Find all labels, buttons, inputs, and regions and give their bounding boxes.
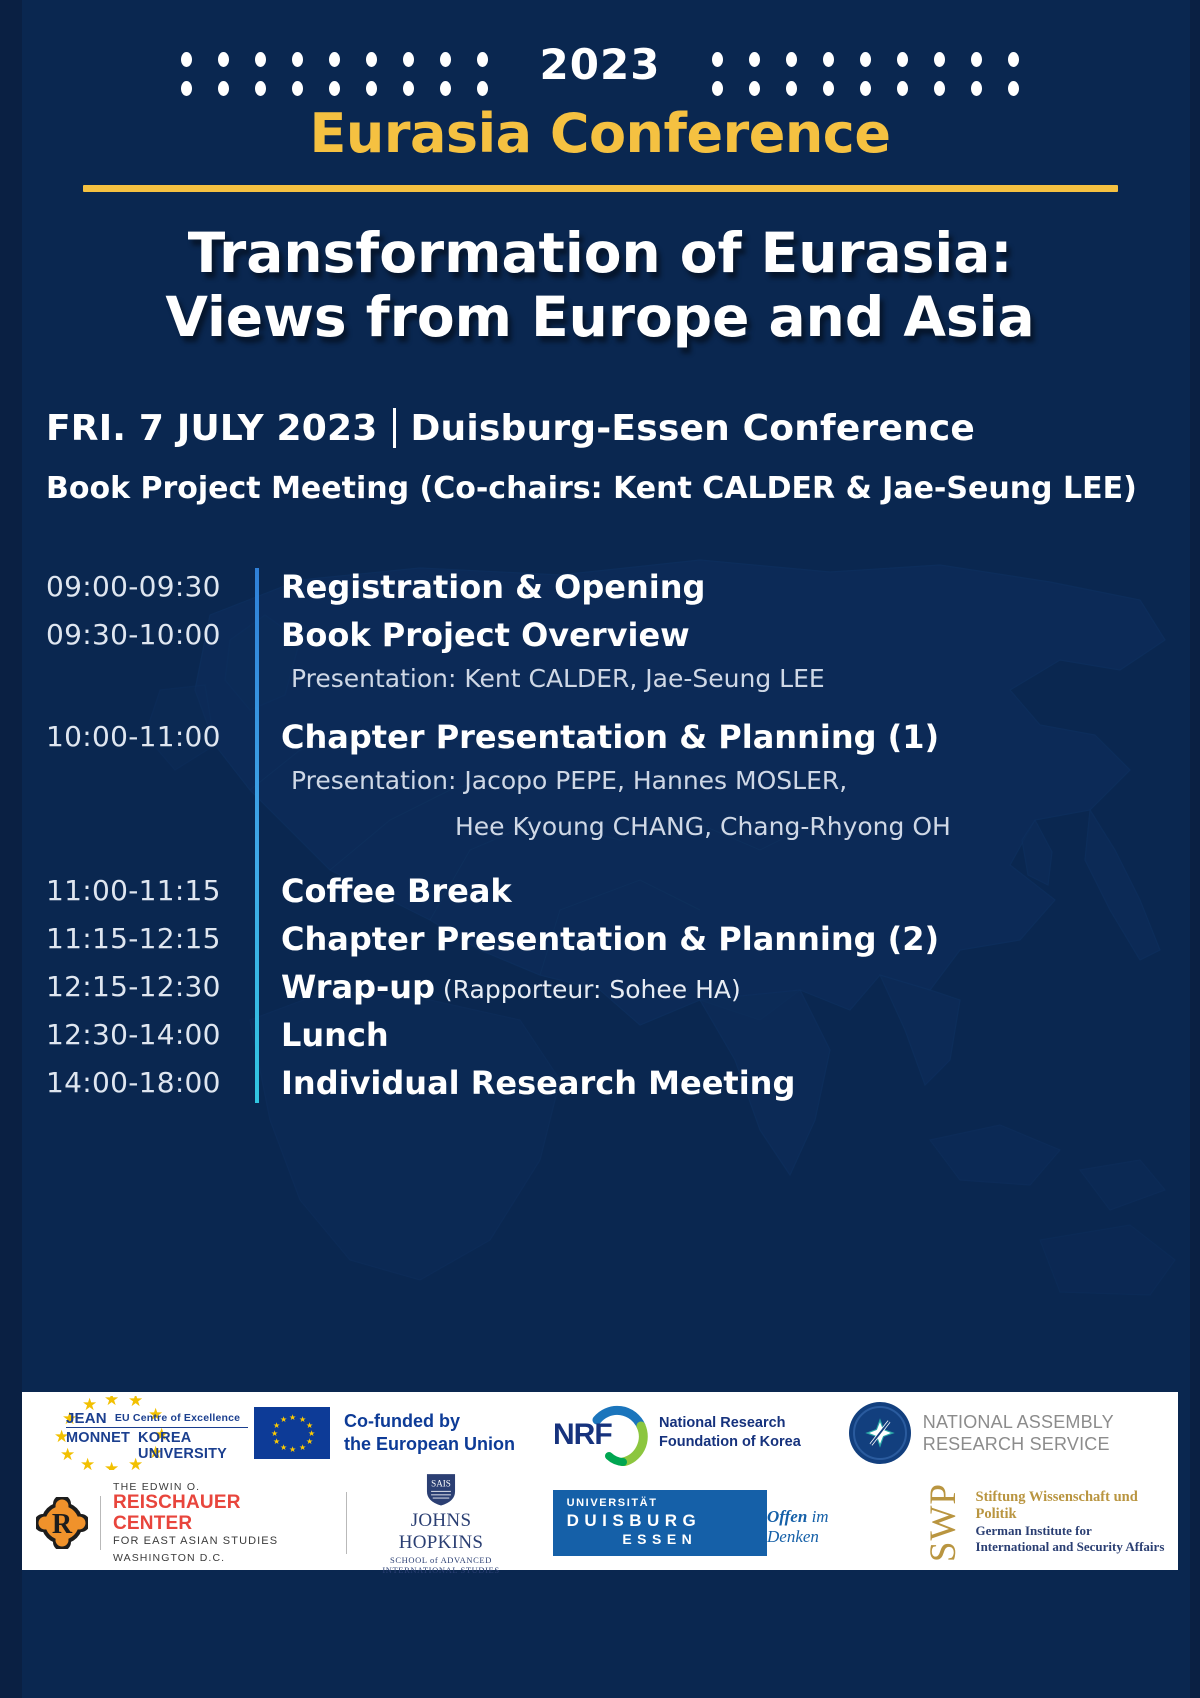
reischauer-line-2: REISCHAUER CENTER: [113, 1493, 320, 1535]
conference-poster: 2023: [0, 0, 1200, 1698]
duisburg-essen-box: UNIVERSITÄT DUISBURG ESSEN: [553, 1490, 767, 1556]
spacer: [46, 710, 1200, 718]
schedule-section: 09:00-09:30 Registration & Opening 09:30…: [0, 568, 1200, 1112]
schedule-time: 11:00-11:15: [46, 872, 255, 907]
schedule-row: 12:30-14:00 Lunch: [46, 1016, 1200, 1064]
schedule-title: Book Project Overview: [255, 616, 690, 654]
eu-flag-icon: ★★ ★★ ★★ ★★ ★★ ★★: [254, 1407, 330, 1459]
dot-icon: [823, 52, 834, 67]
svg-text:★: ★: [280, 1415, 287, 1424]
swp-line-2: German Institute for: [976, 1523, 1179, 1539]
schedule-title-text: Registration & Opening: [281, 568, 705, 606]
dot-icon: [934, 52, 945, 67]
sais-shield-icon: SAIS: [422, 1470, 460, 1508]
johns-hopkins-line-3: INTERNATIONAL STUDIES: [367, 1565, 514, 1575]
dot-line: [712, 81, 1019, 96]
schedule-time: 14:00-18:00: [46, 1064, 255, 1099]
schedule-time: 12:15-12:30: [46, 968, 255, 1003]
reischauer-seal-letter: R: [52, 1509, 73, 1540]
logo-divider: [100, 1496, 101, 1550]
schedule-title: Coffee Break: [255, 872, 512, 910]
co-funded-text: Co-funded by the European Union: [344, 1410, 515, 1456]
schedule-vertical-rule: [255, 568, 259, 1103]
schedule-time: [46, 812, 255, 814]
reischauer-line-3: FOR EAST ASIAN STUDIES: [113, 1535, 320, 1547]
swp-vertical-wordmark: SWP: [925, 1483, 962, 1562]
schedule-time: 10:00-11:00: [46, 718, 255, 753]
right-edge-strip: [1190, 0, 1200, 1698]
schedule-time: [46, 664, 255, 666]
sponsor-logo-band: ★ ★ ★ ★ ★ ★ ★ ★ ★ ★ ★ ★: [22, 1392, 1178, 1570]
dot-icon: [823, 81, 834, 96]
schedule-presenter-row: Presentation: Jacopo PEPE, Hannes MOSLER…: [46, 766, 1200, 812]
reischauer-center-logo: R THE EDWIN O. REISCHAUER CENTER FOR EAS…: [36, 1481, 320, 1565]
national-assembly-text: NATIONAL ASSEMBLY RESEARCH SERVICE: [923, 1411, 1114, 1456]
svg-text:★: ★: [289, 1413, 296, 1422]
dot-icon: [218, 52, 229, 67]
dot-icon: [292, 81, 303, 96]
pipe-divider: [393, 408, 396, 448]
event-date: FRI. 7 JULY 2023: [46, 408, 377, 449]
schedule-row: 11:15-12:15 Chapter Presentation & Plann…: [46, 920, 1200, 968]
schedule-time: 12:30-14:00: [46, 1016, 255, 1051]
swp-line-3: International and Security Affairs: [976, 1539, 1179, 1555]
schedule-presenter: Hee Kyoung CHANG, Chang-Rhyong OH: [255, 812, 951, 841]
svg-text:★: ★: [280, 1443, 287, 1452]
date-line: FRI. 7 JULY 2023 Duisburg-Essen Conferen…: [46, 408, 1200, 449]
schedule-row: 09:30-10:00 Book Project Overview: [46, 616, 1200, 664]
schedule-title: Lunch: [255, 1016, 389, 1054]
dot-icon: [292, 52, 303, 67]
left-edge-strip: [0, 0, 22, 1698]
logo-row-2: R THE EDWIN O. REISCHAUER CENTER FOR EAS…: [22, 1470, 1178, 1579]
nrf-text: National Research Foundation of Korea: [659, 1414, 801, 1452]
schedule-title-text: Book Project Overview: [281, 616, 690, 654]
nars-line-2: RESEARCH SERVICE: [923, 1433, 1114, 1456]
jean-monnet-line-2: MONNET KOREA UNIVERSITY: [66, 1430, 248, 1462]
spacer: [46, 858, 1200, 872]
dot-icon: [477, 52, 488, 67]
dot-icon: [329, 81, 340, 96]
johns-hopkins-logo: SAIS JOHNS HOPKINS SCHOOL of ADVANCED IN…: [346, 1470, 514, 1575]
dot-icon: [366, 52, 377, 67]
swp-logo: SWP Stiftung Wissenschaft und Politik Ge…: [925, 1483, 1179, 1562]
page-title: Transformation of Eurasia: Views from Eu…: [0, 222, 1200, 350]
dot-icon: [181, 81, 192, 96]
nrf-mark: NRF: [553, 1402, 649, 1464]
national-assembly-badge-icon: [849, 1402, 911, 1464]
dot-icon: [218, 81, 229, 96]
dot-icon: [934, 81, 945, 96]
schedule-time: [46, 766, 255, 768]
schedule-title-note: (Rapporteur: Sohee HA): [435, 975, 741, 1004]
dot-icon: [712, 81, 723, 96]
dot-group-left: [181, 52, 488, 96]
poster-header: 2023: [0, 0, 1200, 192]
nrf-line-2: Foundation of Korea: [659, 1433, 801, 1452]
dot-icon: [329, 52, 340, 67]
logo-row-1: ★ ★ ★ ★ ★ ★ ★ ★ ★ ★ ★ ★: [22, 1392, 1178, 1470]
dot-icon: [1008, 52, 1019, 67]
dot-line: [712, 52, 1019, 67]
svg-text:★: ★: [306, 1437, 313, 1446]
event-venue: Duisburg-Essen Conference: [410, 408, 975, 449]
duisburg-essen-logo: UNIVERSITÄT DUISBURG ESSEN Offen im Denk…: [553, 1490, 883, 1556]
schedule-title-text: Chapter Presentation & Planning (2): [281, 920, 939, 958]
jm-jean: JEAN: [66, 1412, 107, 1426]
jean-monnet-line-1: JEAN EU Centre of Excellence: [66, 1412, 248, 1428]
johns-hopkins-text: SAIS JOHNS HOPKINS SCHOOL of ADVANCED IN…: [367, 1470, 514, 1575]
dot-icon: [477, 81, 488, 96]
schedule-presenter-row: Hee Kyoung CHANG, Chang-Rhyong OH: [46, 812, 1200, 858]
svg-text:SAIS: SAIS: [431, 1479, 451, 1489]
duisburg-essen-tagline: Offen im Denken: [767, 1507, 883, 1547]
schedule-title: Individual Research Meeting: [255, 1064, 795, 1102]
schedule-list: 09:00-09:30 Registration & Opening 09:30…: [46, 568, 1200, 1112]
schedule-row: 10:00-11:00 Chapter Presentation & Plann…: [46, 718, 1200, 766]
schedule-time: 11:15-12:15: [46, 920, 255, 955]
dot-icon: [712, 52, 723, 67]
johns-hopkins-line-1: JOHNS HOPKINS: [367, 1510, 514, 1554]
schedule-row: 14:00-18:00 Individual Research Meeting: [46, 1064, 1200, 1112]
schedule-presenter-row: Presentation: Kent CALDER, Jae-Seung LEE: [46, 664, 1200, 710]
dot-icon: [860, 81, 871, 96]
dot-icon: [749, 81, 760, 96]
dot-icon: [181, 52, 192, 67]
schedule-title-text: Chapter Presentation & Planning (1): [281, 718, 939, 756]
schedule-title: Chapter Presentation & Planning (2): [255, 920, 939, 958]
dot-icon: [897, 81, 908, 96]
eu-cofunded-logo: ★★ ★★ ★★ ★★ ★★ ★★ Co-funded by the Europ…: [248, 1407, 515, 1459]
dot-icon: [749, 52, 760, 67]
schedule-title: Wrap-up (Rapporteur: Sohee HA): [255, 968, 741, 1006]
schedule-row: 09:00-09:30 Registration & Opening: [46, 568, 1200, 616]
jean-monnet-text: JEAN EU Centre of Excellence MONNET KORE…: [66, 1412, 248, 1462]
co-funded-line-1: Co-funded by: [344, 1410, 515, 1433]
schedule-title: Chapter Presentation & Planning (1): [255, 718, 939, 756]
dot-icon: [1008, 81, 1019, 96]
schedule-row: 12:15-12:30 Wrap-up (Rapporteur: Sohee H…: [46, 968, 1200, 1016]
schedule-presenter: Presentation: Jacopo PEPE, Hannes MOSLER…: [255, 766, 847, 795]
jm-korea-university: KOREA UNIVERSITY: [138, 1430, 248, 1462]
svg-text:★: ★: [104, 1396, 119, 1410]
ude-line-3: ESSEN: [567, 1531, 753, 1547]
schedule-title: Registration & Opening: [255, 568, 705, 606]
gold-divider: [83, 185, 1118, 192]
meeting-subtitle: Book Project Meeting (Co-chairs: Kent CA…: [46, 471, 1200, 506]
schedule-title-text: Individual Research Meeting: [281, 1064, 795, 1102]
reischauer-line-4: WASHINGTON D.C.: [113, 1552, 320, 1564]
dot-line: [181, 81, 488, 96]
svg-text:★: ★: [299, 1443, 306, 1452]
dot-icon: [403, 81, 414, 96]
jm-eu-centre: EU Centre of Excellence: [115, 1412, 240, 1426]
schedule-title-text: Coffee Break: [281, 872, 512, 910]
dot-icon: [255, 81, 266, 96]
dot-icon: [403, 52, 414, 67]
johns-hopkins-line-2: SCHOOL of ADVANCED: [367, 1555, 514, 1565]
national-assembly-logo: NATIONAL ASSEMBLY RESEARCH SERVICE: [849, 1402, 1114, 1464]
header-dot-row: 2023: [0, 52, 1200, 96]
ude-line-2: DUISBURG: [567, 1511, 753, 1531]
nrf-wordmark: NRF: [553, 1418, 612, 1452]
nrf-line-1: National Research: [659, 1414, 801, 1433]
dot-icon: [786, 52, 797, 67]
dot-icon: [440, 81, 451, 96]
dot-icon: [860, 52, 871, 67]
schedule-time: 09:00-09:30: [46, 568, 255, 603]
schedule-title-text: Lunch: [281, 1016, 389, 1054]
nrf-logo: NRF National Research Foundation of Kore…: [553, 1402, 801, 1464]
jean-monnet-logo: ★ ★ ★ ★ ★ ★ ★ ★ ★ ★ ★ ★: [36, 1396, 248, 1470]
reischauer-seal-icon: R: [36, 1497, 88, 1549]
ude-line-1: UNIVERSITÄT: [567, 1497, 753, 1509]
dot-icon: [255, 52, 266, 67]
conference-name: Eurasia Conference: [0, 102, 1200, 165]
schedule-title-text: Wrap-up: [281, 968, 435, 1006]
swp-line-1: Stiftung Wissenschaft und Politik: [976, 1489, 1179, 1523]
swp-text: Stiftung Wissenschaft und Politik German…: [976, 1489, 1179, 1555]
dot-icon: [897, 52, 908, 67]
dot-icon: [366, 81, 377, 96]
dot-icon: [971, 52, 982, 67]
svg-text:★: ★: [128, 1396, 143, 1411]
logo-divider: [346, 1492, 347, 1554]
svg-text:★: ★: [273, 1437, 280, 1446]
title-line-2: Views from Europe and Asia: [0, 286, 1200, 350]
ude-tagline-bold: Offen: [767, 1507, 807, 1526]
nars-line-1: NATIONAL ASSEMBLY: [923, 1411, 1114, 1434]
jm-monnet: MONNET: [66, 1430, 130, 1462]
title-line-1: Transformation of Eurasia:: [0, 222, 1200, 286]
dot-icon: [971, 81, 982, 96]
dot-icon: [786, 81, 797, 96]
svg-text:★: ★: [271, 1429, 278, 1438]
schedule-presenter: Presentation: Kent CALDER, Jae-Seung LEE: [255, 664, 825, 693]
dot-group-right: [712, 52, 1019, 96]
date-venue-block: FRI. 7 JULY 2023 Duisburg-Essen Conferen…: [46, 408, 1200, 506]
svg-text:★: ★: [289, 1445, 296, 1454]
dot-line: [181, 52, 488, 67]
year-label: 2023: [518, 44, 683, 86]
schedule-row: 11:00-11:15 Coffee Break: [46, 872, 1200, 920]
co-funded-line-2: the European Union: [344, 1433, 515, 1456]
dot-icon: [440, 52, 451, 67]
reischauer-line-1: THE EDWIN O.: [113, 1481, 320, 1493]
schedule-time: 09:30-10:00: [46, 616, 255, 651]
reischauer-text: THE EDWIN O. REISCHAUER CENTER FOR EAST …: [113, 1481, 320, 1565]
